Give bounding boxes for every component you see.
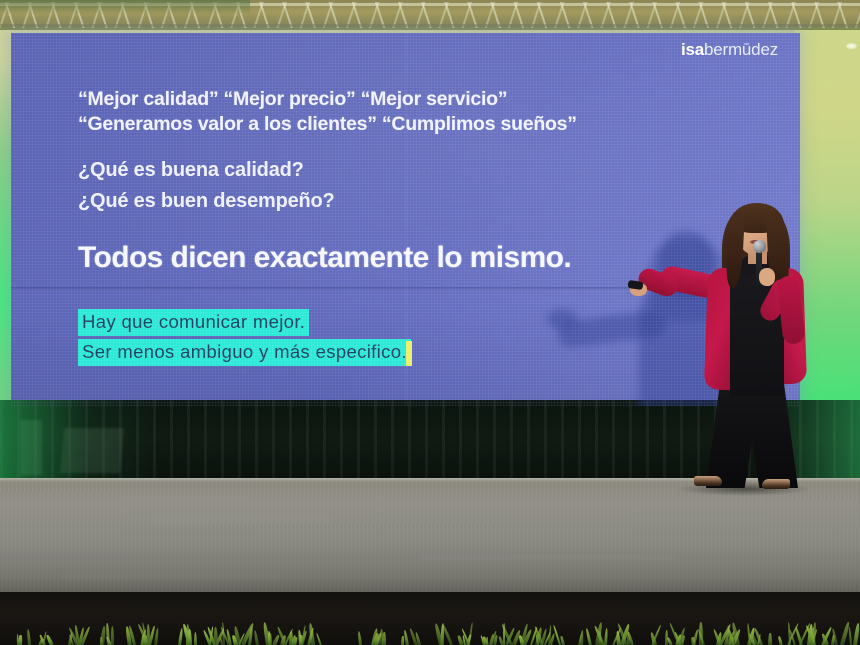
headline-block: Todos dicen exactamente lo mismo.: [78, 241, 571, 275]
ceiling-spotlight-icon: [846, 43, 857, 49]
highlighted-block: Hay que comunicar mejor. Ser menos ambig…: [78, 309, 412, 366]
presenter-right-hand: [759, 268, 775, 286]
grass-blade: [580, 630, 583, 645]
truss-rail-bottom: [0, 24, 860, 27]
question-line-2: ¿Qué es buen desempeño?: [78, 186, 335, 217]
highlight-line-1: Hay que comunicar mejor.: [78, 309, 309, 336]
brand-logo-bold: isa: [681, 40, 704, 59]
grass-blade: [585, 628, 591, 645]
foreground-grass: [0, 619, 860, 645]
grass-blade: [853, 623, 860, 645]
grass-blade: [777, 636, 782, 645]
curtain-green-glow-left: [0, 400, 160, 486]
grass-blade: [272, 634, 280, 645]
highlighted-row-1: Hay que comunicar mejor.: [78, 309, 412, 336]
quote-line-2: “Generamos valor a los clientes” “Cumpli…: [78, 112, 577, 137]
slide-content: isabermūdez “Mejor calidad” “Mejor preci…: [11, 33, 800, 406]
grass-blade: [46, 634, 54, 645]
grass-blade: [178, 628, 183, 645]
slide-headline: Todos dicen exactamente lo mismo.: [78, 241, 571, 275]
presenter-shoe-right: [762, 479, 790, 489]
grass-blade: [27, 629, 32, 645]
microphone-icon: [753, 240, 766, 253]
grass-blade: [99, 637, 103, 645]
floor-scuff-3: [60, 575, 280, 578]
led-presentation-screen: isabermūdez “Mejor calidad” “Mejor preci…: [11, 33, 800, 406]
grass-blade: [560, 636, 565, 645]
grass-blade: [604, 628, 608, 645]
questions-block: ¿Qué es buena calidad? ¿Qué es buen dese…: [78, 155, 335, 217]
question-line-1: ¿Qué es buena calidad?: [78, 155, 335, 186]
grass-blade: [768, 633, 772, 645]
highlighted-row-2: Ser menos ambiguo y más especifico.: [78, 336, 412, 366]
grass-blade: [848, 627, 852, 645]
brand-logo-light: bermūdez: [704, 40, 778, 59]
accent-tick-marker: [406, 341, 412, 366]
brand-logo: isabermūdez: [681, 40, 778, 60]
grass-blade: [194, 632, 198, 645]
stage-photo-scene: isabermūdez “Mejor calidad” “Mejor preci…: [0, 0, 860, 645]
quote-line-1: “Mejor calidad” “Mejor precio” “Mejor se…: [78, 87, 577, 112]
truss-shadow: [0, 0, 250, 14]
grass-blade: [690, 636, 695, 645]
grass-blade: [315, 632, 322, 645]
grass-blade: [188, 629, 192, 645]
quotes-block: “Mejor calidad” “Mejor precio” “Mejor se…: [78, 87, 577, 137]
grass-blade: [358, 631, 363, 645]
grass-blade: [154, 628, 159, 645]
grass-blade: [253, 630, 259, 645]
floor-scuff-2: [420, 556, 680, 559]
highlight-line-2: Ser menos ambiguo y más especifico.: [78, 339, 411, 366]
ceiling-truss: [0, 0, 860, 30]
presenter-shoe-left: [694, 476, 722, 486]
floor-scuff-1: [150, 520, 330, 523]
grass-blade: [382, 632, 386, 645]
grass-blade: [146, 624, 150, 645]
